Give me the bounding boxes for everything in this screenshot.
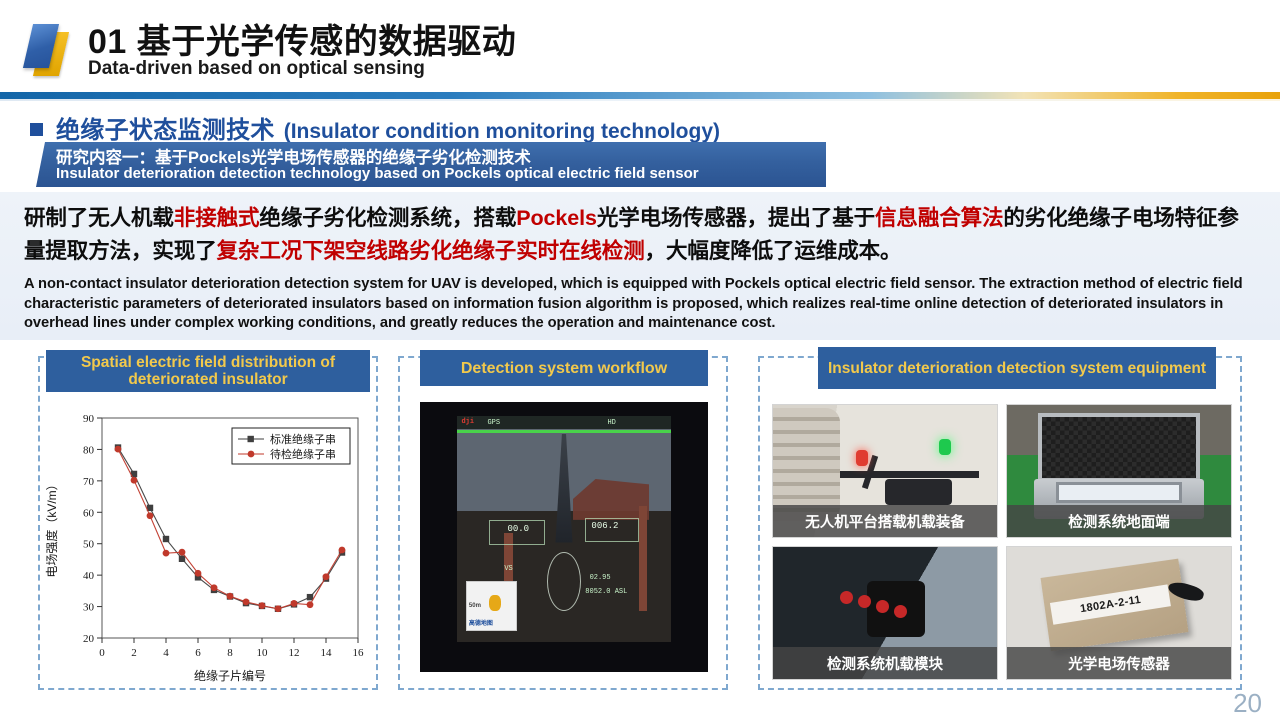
video-frame: dji GPS HD 00.0 006.2 VS 02.95 8052.0 AS…	[457, 416, 670, 643]
panel-title-equipment: Insulator deterioration detection system…	[818, 347, 1216, 389]
equipment-caption: 无人机平台搭载机载装备	[773, 505, 997, 537]
y-tick-label: 70	[83, 476, 95, 488]
panel-equipment: 无人机平台搭载机载装备 检测系统地面端 检测系统机载模块	[758, 356, 1242, 690]
x-tick-label: 2	[131, 647, 137, 659]
transmission-tower-art	[555, 434, 572, 543]
data-point	[307, 594, 313, 600]
video-hud-greenline	[457, 430, 670, 433]
led-green-icon	[939, 439, 951, 455]
altitude-value: 00.0	[507, 524, 529, 534]
y-tick-label: 50	[83, 539, 95, 551]
battery-voltage-value: 02.95	[590, 574, 611, 582]
page-title: 01 基于光学传感的数据驱动	[88, 14, 516, 63]
x-tick-label: 8	[227, 647, 233, 659]
map-marker-icon	[489, 595, 501, 611]
body-text: ，大幅度降低了运维成本。	[645, 239, 902, 263]
chart-canvas: 20304050607080900246810121416绝缘子片编号电场强度（…	[40, 402, 376, 688]
module-dot-icon-3	[876, 600, 889, 613]
y-tick-label: 90	[83, 413, 95, 425]
y-tick-label: 20	[83, 633, 95, 645]
research-banner: 研究内容一：基于Pockels光学电场传感器的绝缘子劣化检测技术 Insulat…	[36, 142, 836, 187]
summary-paragraph-cn: 研制了无人机载非接触式绝缘子劣化检测系统，搭载Pockels光学电场传感器，提出…	[24, 202, 1258, 268]
data-point	[179, 549, 186, 556]
summary-paragraph-en: A non-contact insulator deterioration de…	[24, 275, 1258, 334]
section-title-en: (Insulator condition monitoring technolo…	[284, 120, 720, 144]
data-point	[339, 547, 346, 554]
distance-readout-box: 006.2	[585, 518, 638, 543]
equipment-caption: 光学电场传感器	[1007, 647, 1231, 679]
data-point	[307, 601, 314, 608]
panel-spatial-field-chart: 20304050607080900246810121416绝缘子片编号电场强度（…	[38, 356, 378, 690]
panel-title-workflow: Detection system workflow	[420, 350, 708, 386]
vertical-speed-label: VS	[504, 565, 512, 573]
data-point	[275, 605, 282, 612]
case-screen-art	[1056, 482, 1181, 503]
highlight-text: 信息融合算法	[875, 206, 1003, 230]
equipment-caption: 检测系统地面端	[1007, 505, 1231, 537]
slide-header: 01 基于光学传感的数据驱动 Data-driven based on opti…	[0, 0, 1280, 92]
data-point	[259, 602, 266, 609]
body-text-block: 研制了无人机载非接触式绝缘子劣化检测系统，搭载Pockels光学电场传感器，提出…	[0, 192, 1280, 340]
altitude-readout-box: 00.0	[489, 520, 544, 545]
line-chart: 20304050607080900246810121416绝缘子片编号电场强度（…	[40, 402, 376, 688]
x-axis-label: 绝缘子片编号	[194, 668, 266, 683]
y-axis-label: 电场强度（kV/m）	[44, 478, 59, 577]
header-divider	[0, 92, 1280, 99]
panel-detection-workflow: dji GPS HD 00.0 006.2 VS 02.95 8052.0 AS…	[398, 356, 728, 690]
page-subtitle: Data-driven based on optical sensing	[88, 58, 425, 80]
x-tick-label: 10	[257, 647, 269, 659]
data-point	[179, 556, 185, 562]
drone-arm-art-1	[840, 471, 979, 478]
x-tick-label: 14	[321, 647, 333, 659]
asl-value: 8052.0 ASL	[585, 588, 627, 596]
section-title-cn: 绝缘子状态监测技术	[56, 110, 275, 145]
case-lid-art	[1038, 413, 1199, 482]
slide: 01 基于光学传感的数据驱动 Data-driven based on opti…	[0, 0, 1280, 723]
equipment-photo-optical-sensor[interactable]: 1802A-2-11 光学电场传感器	[1006, 546, 1232, 680]
data-point	[243, 598, 250, 605]
x-tick-label: 4	[163, 647, 169, 659]
body-text: 研制了无人机载	[24, 206, 174, 230]
banner-title-en: Insulator deterioration detection techno…	[56, 165, 699, 182]
equipment-photo-ground-station[interactable]: 检测系统地面端	[1006, 404, 1232, 538]
x-tick-label: 12	[289, 647, 300, 659]
highlight-text: Pockels	[516, 206, 597, 230]
video-hud-topbar: dji GPS HD	[457, 416, 670, 429]
workflow-video-thumbnail[interactable]: dji GPS HD 00.0 006.2 VS 02.95 8052.0 AS…	[420, 402, 708, 672]
data-point	[227, 593, 234, 600]
legend-label: 标准绝缘子串	[270, 432, 336, 446]
data-point	[115, 446, 122, 453]
data-point	[195, 570, 202, 577]
module-dot-icon-2	[858, 595, 871, 608]
data-point	[163, 536, 169, 542]
distance-value: 006.2	[591, 521, 618, 531]
map-provider-label: 高德地图	[469, 618, 493, 627]
y-tick-label: 60	[83, 507, 95, 519]
y-tick-label: 40	[83, 570, 95, 582]
equipment-photo-airborne-module[interactable]: 检测系统机载模块	[772, 546, 998, 680]
equipment-caption: 检测系统机载模块	[773, 647, 997, 679]
x-tick-label: 6	[195, 647, 201, 659]
data-point	[147, 512, 154, 519]
gps-status-label: GPS	[487, 419, 500, 427]
drone-body-art	[885, 479, 952, 505]
logo-icon	[24, 20, 82, 76]
data-point	[211, 584, 218, 591]
dji-brand-icon: dji	[461, 418, 474, 426]
x-tick-label: 16	[353, 647, 365, 659]
equipment-grid: 无人机平台搭载机载装备 检测系统地面端 检测系统机载模块	[772, 404, 1232, 680]
mini-map[interactable]: 50m 高德地图	[466, 581, 517, 631]
led-red-icon	[856, 450, 868, 466]
section-heading: 绝缘子状态监测技术 (Insulator condition monitorin…	[30, 110, 720, 145]
panel-title-chart: Spatial electric field distribution of d…	[46, 350, 370, 392]
data-point	[291, 600, 298, 607]
attitude-indicator-icon	[547, 552, 581, 611]
body-text: 光学电场传感器，提出了基于	[597, 206, 875, 230]
x-tick-label: 0	[99, 647, 105, 659]
y-tick-label: 80	[83, 444, 95, 456]
data-point	[323, 573, 330, 580]
module-dot-icon-4	[894, 605, 907, 618]
pole-art-right	[639, 506, 648, 610]
page-number: 20	[1233, 688, 1262, 719]
module-dot-icon-1	[840, 591, 853, 604]
highlight-text: 非接触式	[174, 206, 260, 230]
square-bullet-icon	[30, 123, 43, 136]
highlight-text: 复杂工况下架空线路劣化绝缘子实时在线检测	[217, 239, 645, 263]
sensor-box-art: 1802A-2-11	[1041, 559, 1189, 652]
y-tick-label: 30	[83, 602, 95, 614]
sensor-serial-label: 1802A-2-11	[1050, 585, 1171, 626]
body-text: 绝缘子劣化检测系统，搭载	[259, 206, 516, 230]
legend-label: 待检绝缘子串	[270, 447, 336, 461]
equipment-photo-drone[interactable]: 无人机平台搭载机载装备	[772, 404, 998, 538]
data-point	[163, 550, 170, 557]
data-point	[131, 477, 138, 484]
header-divider-thin	[0, 99, 1280, 101]
hd-status-label: HD	[607, 419, 615, 427]
